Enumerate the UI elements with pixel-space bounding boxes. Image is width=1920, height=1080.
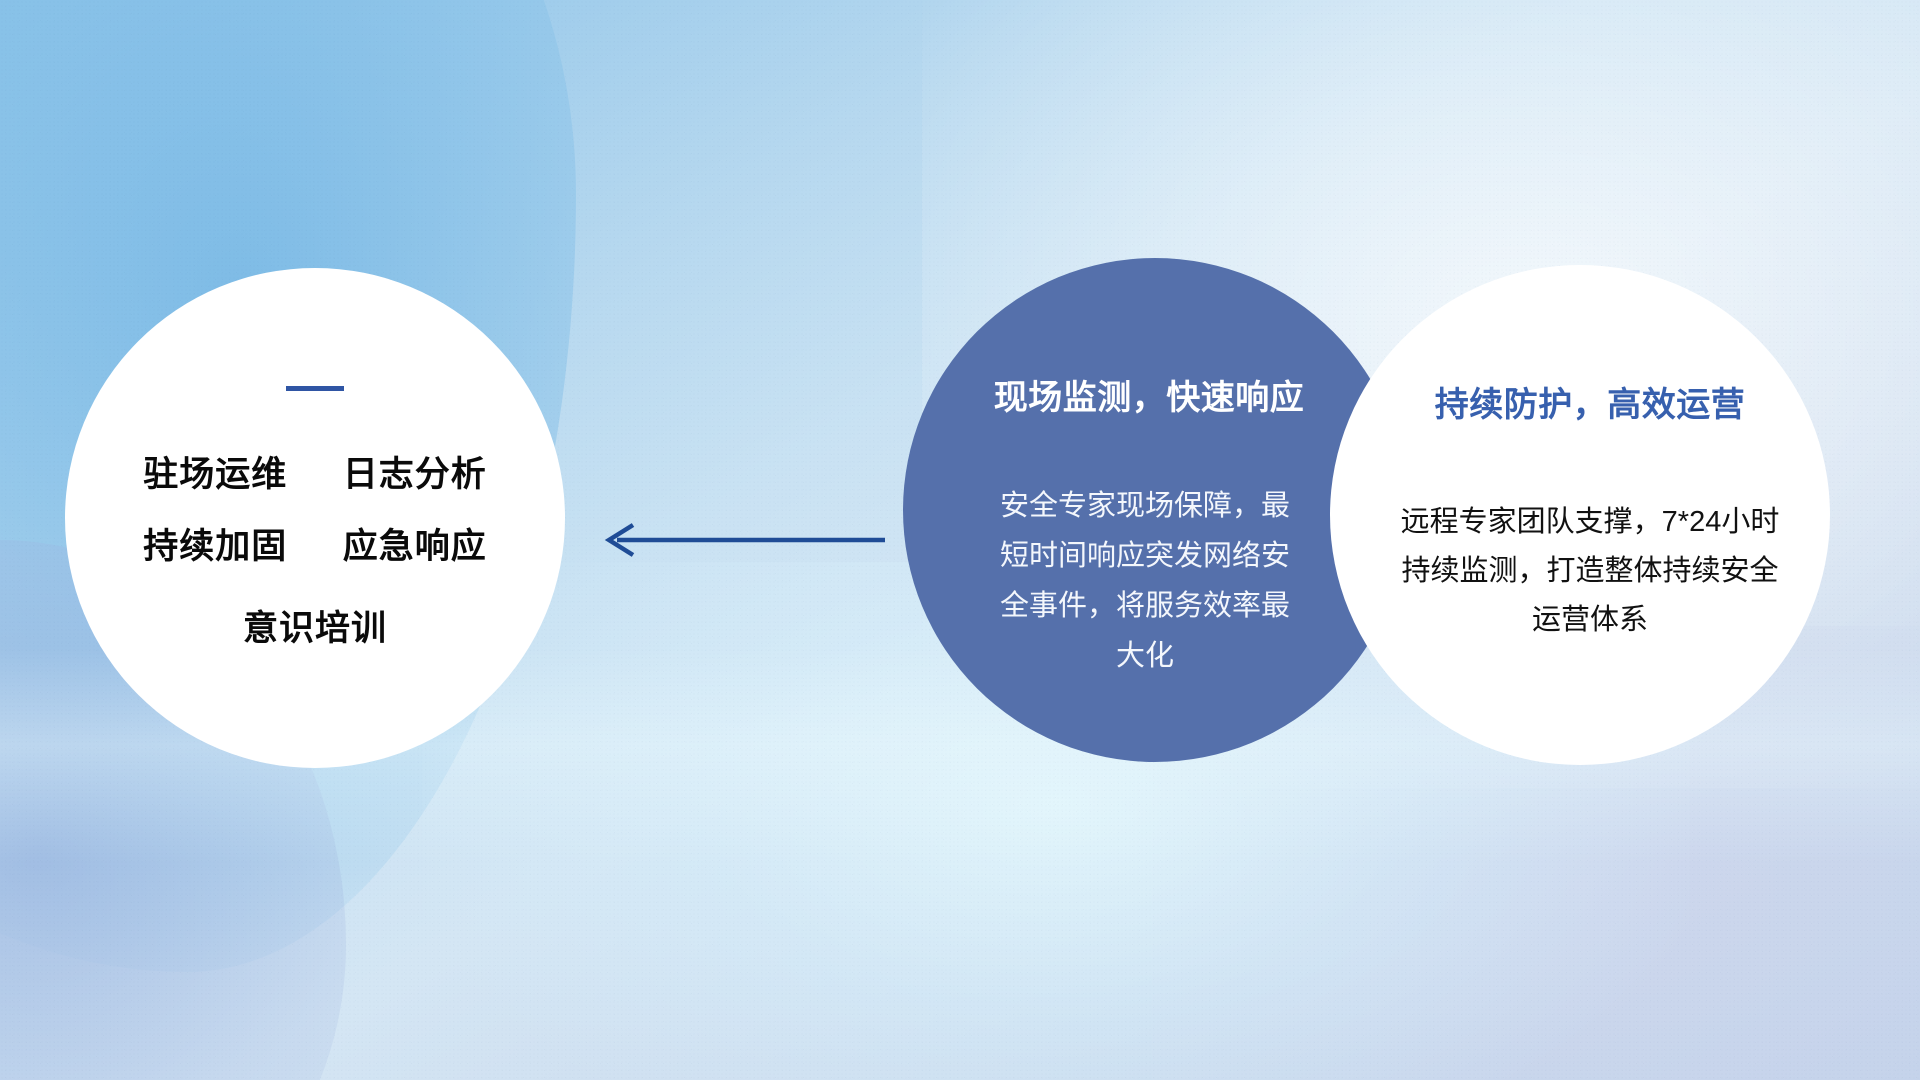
continuous-protection-circle[interactable]: 持续防护，高效运营 远程专家团队支撑，7*24小时持续监测，打造整体持续安全运营… [1330, 265, 1830, 765]
capability-circle[interactable]: 驻场运维 日志分析 持续加固 应急响应 意识培训 [65, 268, 565, 768]
capability-row: 持续加固 应急响应 [143, 511, 487, 583]
onsite-circle-title: 现场监测，快速响应 [994, 370, 1305, 419]
capability-keyword: 日志分析 [343, 455, 487, 494]
capability-keyword: 持续加固 [143, 527, 287, 566]
arrow-left-icon [595, 512, 885, 568]
onsite-circle-body: 安全专家现场保障，最短时间响应突发网络安全事件，将服务效率最大化 [995, 481, 1295, 681]
slide-canvas: 驻场运维 日志分析 持续加固 应急响应 意识培训 [0, 0, 1920, 1080]
continuous-circle-title: 持续防护，高效运营 [1435, 377, 1746, 426]
capability-keyword: 驻场运维 [143, 455, 287, 494]
left-arrow-connector [595, 512, 885, 568]
dash-divider-icon [286, 386, 344, 391]
capability-row: 驻场运维 日志分析 [143, 439, 487, 511]
capability-row: 意识培训 [143, 593, 487, 665]
capability-keyword: 意识培训 [243, 609, 387, 648]
continuous-circle-body: 远程专家团队支撑，7*24小时持续监测，打造整体持续安全运营体系 [1390, 498, 1790, 645]
continuous-circle-content: 持续防护，高效运营 远程专家团队支撑，7*24小时持续监测，打造整体持续安全运营… [1330, 265, 1830, 765]
capability-circle-content: 驻场运维 日志分析 持续加固 应急响应 意识培训 [65, 268, 565, 768]
capability-keyword-list: 驻场运维 日志分析 持续加固 应急响应 意识培训 [143, 439, 487, 665]
capability-keyword: 应急响应 [343, 527, 487, 566]
